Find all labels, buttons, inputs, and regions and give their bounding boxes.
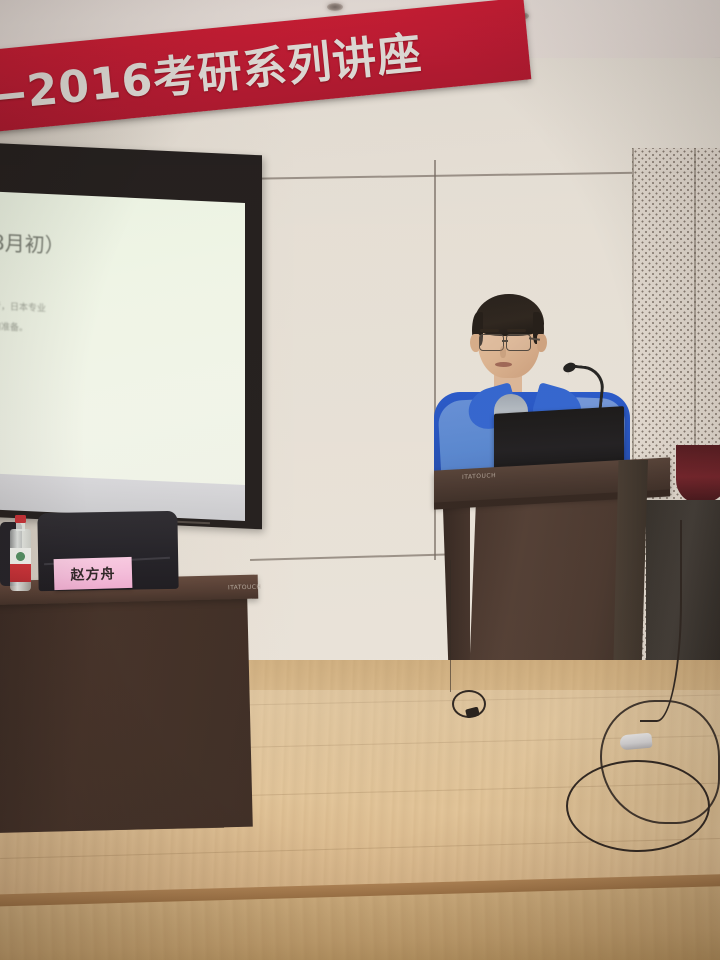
slide-body-text-2: 的准备。 xyxy=(0,319,28,334)
slide-heading-text: 8月初） xyxy=(0,226,65,258)
water-bottle-cap xyxy=(15,515,26,523)
curtain xyxy=(676,445,720,503)
name-placard-text: 赵方舟 xyxy=(70,563,116,584)
downlight-1-icon xyxy=(327,3,343,11)
slide-body-text-1: 考，日本专业 xyxy=(0,299,46,314)
table-brand-mark: ITATOUCH xyxy=(228,584,261,592)
mouth xyxy=(495,362,512,367)
eyebrow-left xyxy=(480,329,499,332)
ear-right xyxy=(537,334,547,352)
eyeglasses-bridge xyxy=(502,340,508,342)
eyeglasses-lens-right xyxy=(506,334,531,351)
water-bottle-label-top xyxy=(10,548,31,564)
wall-cable-left xyxy=(450,560,451,692)
nose xyxy=(500,346,506,358)
lecture-hall-photo: —2016考研系列讲座 8月初） 考，日本专业 的准备。 xyxy=(0,0,720,960)
water-bottle-logo-icon xyxy=(15,551,26,562)
table-front-panel xyxy=(0,595,253,834)
eyebrow-right xyxy=(507,329,526,332)
name-placard: 赵方舟 xyxy=(54,557,133,590)
water-bottle-label-bottom xyxy=(10,564,31,582)
